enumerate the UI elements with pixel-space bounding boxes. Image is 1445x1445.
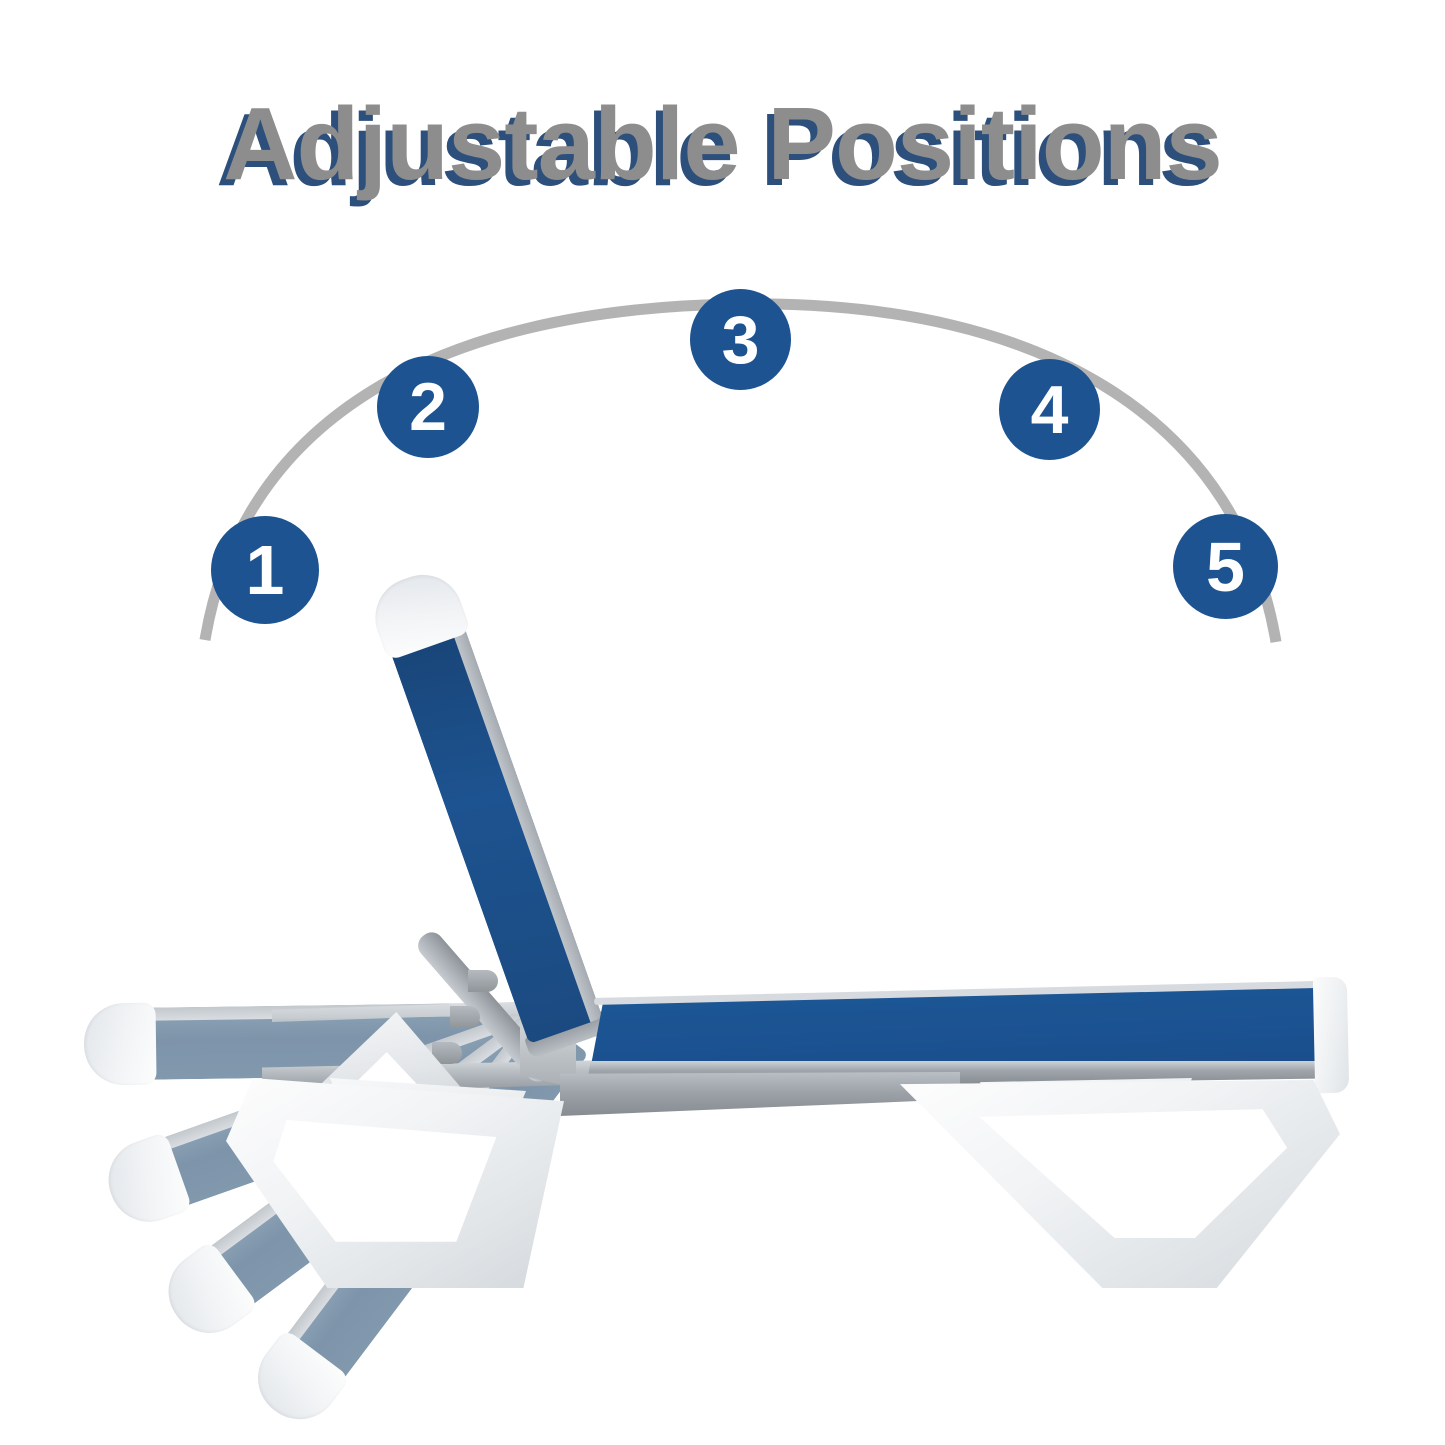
seat-panel	[588, 985, 1340, 1081]
infographic-canvas: Adjustable Positions 1 2 3 4 5	[0, 0, 1445, 1445]
ratchet-notch	[468, 970, 498, 992]
chaise-lounge-product-image	[0, 0, 1445, 1445]
ratchet-notch	[450, 1006, 480, 1028]
seat-end-cap	[1313, 977, 1349, 1094]
leg-front-left	[226, 1078, 564, 1288]
backrest-end-cap	[83, 1003, 156, 1086]
leg-front-right	[900, 1080, 1340, 1288]
